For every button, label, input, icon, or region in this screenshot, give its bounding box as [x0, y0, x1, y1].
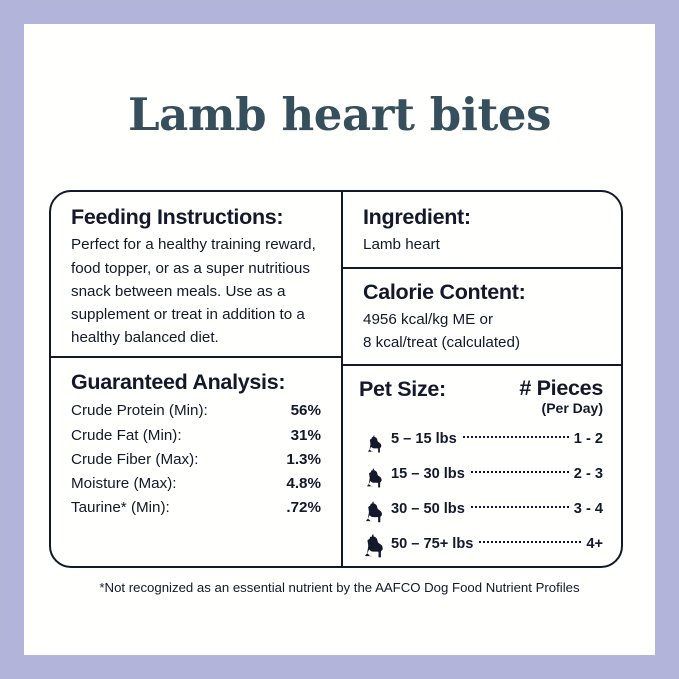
guaranteed-analysis-heading: Guaranteed Analysis: [71, 370, 321, 395]
dog-icon [359, 492, 391, 527]
pet-size-label: 50 – 75+ lbs [391, 536, 473, 552]
analysis-value: 56% [291, 403, 321, 418]
analysis-label: Taurine* (Min): [71, 500, 170, 515]
feeding-instructions-section: Feeding Instructions: Perfect for a heal… [51, 192, 341, 356]
table-row: 50 – 75+ lbs 4+ [359, 527, 603, 562]
dog-icon [359, 457, 391, 492]
pieces-count: 2 - 3 [574, 466, 603, 482]
feeding-instructions-heading: Feeding Instructions: [71, 205, 321, 230]
dog-icon [359, 527, 391, 562]
ingredient-value: Lamb heart [363, 233, 601, 256]
analysis-value: .72% [286, 500, 321, 515]
label-page: Lamb heart bites Feeding Instructions: P… [24, 24, 655, 655]
analysis-label: Crude Fat (Min): [71, 428, 182, 443]
analysis-value: 4.8% [286, 476, 321, 491]
table-row: Taurine* (Min): .72% [71, 496, 321, 520]
feeding-instructions-body: Perfect for a healthy training reward, f… [71, 233, 321, 349]
pieces-heading-group: # Pieces (Per Day) [519, 377, 603, 415]
pet-size-section: Pet Size: # Pieces (Per Day) [343, 364, 621, 567]
pet-size-label: 30 – 50 lbs [391, 501, 465, 517]
analysis-label: Crude Fiber (Max): [71, 452, 198, 467]
pet-size-table-header: Pet Size: # Pieces (Per Day) [359, 377, 603, 415]
table-row: Crude Fiber (Max): 1.3% [71, 447, 321, 471]
left-column: Feeding Instructions: Perfect for a heal… [51, 192, 343, 566]
table-row: 30 – 50 lbs 3 - 4 [359, 492, 603, 527]
pet-size-heading: Pet Size: [359, 377, 446, 402]
pet-size-label: 15 – 30 lbs [391, 466, 465, 482]
leader-dots [471, 506, 569, 508]
leader-dots [479, 541, 581, 543]
ingredient-heading: Ingredient: [363, 205, 601, 230]
pieces-count: 1 - 2 [574, 431, 603, 447]
guaranteed-analysis-list: Crude Protein (Min): 56% Crude Fat (Min)… [71, 399, 321, 520]
leader-dots [471, 471, 569, 473]
nutrition-card: Feeding Instructions: Perfect for a heal… [49, 190, 623, 568]
analysis-value: 31% [291, 428, 321, 443]
dog-icon [359, 422, 391, 457]
table-row: 15 – 30 lbs 2 - 3 [359, 457, 603, 492]
pieces-heading: # Pieces [519, 377, 603, 400]
table-row: Moisture (Max): 4.8% [71, 472, 321, 496]
pieces-count: 3 - 4 [574, 501, 603, 517]
ingredient-section: Ingredient: Lamb heart [343, 192, 621, 267]
analysis-value: 1.3% [286, 452, 321, 467]
table-row: 5 – 15 lbs 1 - 2 [359, 422, 603, 457]
footnote: *Not recognized as an essential nutrient… [24, 580, 655, 595]
leader-dots [463, 436, 569, 438]
table-row: Crude Fat (Min): 31% [71, 423, 321, 447]
calorie-content-heading: Calorie Content: [363, 280, 601, 305]
table-row: Crude Protein (Min): 56% [71, 399, 321, 423]
pet-size-label: 5 – 15 lbs [391, 431, 457, 447]
guaranteed-analysis-section: Guaranteed Analysis: Crude Protein (Min)… [51, 356, 341, 526]
pet-size-rows: 5 – 15 lbs 1 - 2 15 – 30 lbs [359, 422, 603, 562]
calorie-content-section: Calorie Content: 4956 kcal/kg ME or 8 kc… [343, 267, 621, 365]
pieces-subheading: (Per Day) [519, 401, 603, 416]
calorie-content-line-2: 8 kcal/treat (calculated) [363, 331, 601, 354]
right-column: Ingredient: Lamb heart Calorie Content: … [343, 192, 621, 566]
page-title: Lamb heart bites [24, 88, 655, 141]
calorie-content-line-1: 4956 kcal/kg ME or [363, 308, 601, 331]
pieces-count: 4+ [586, 536, 603, 552]
analysis-label: Moisture (Max): [71, 476, 176, 491]
analysis-label: Crude Protein (Min): [71, 403, 208, 418]
